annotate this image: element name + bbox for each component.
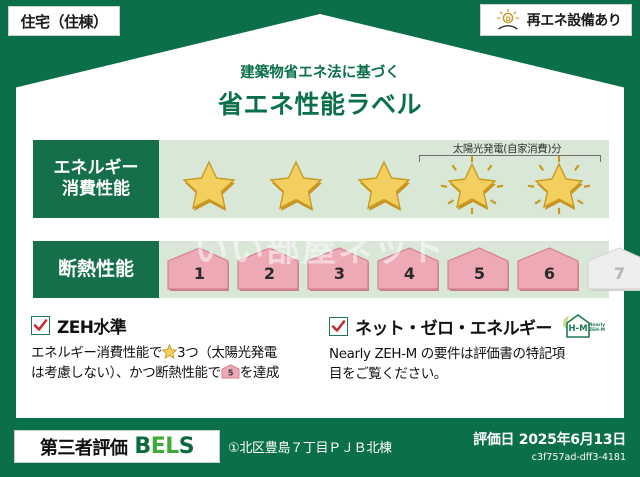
svg-text:ZEH-M: ZEH-M xyxy=(589,327,605,333)
renewable-equipment-badge: D 再エネ設備あり xyxy=(480,4,632,36)
house-icon-grade-6: 6 xyxy=(517,247,582,293)
evaluation-info: 評価日 2025年6月13日 c3f757ad-dff3-4181 xyxy=(473,429,626,463)
house-grade-number: 4 xyxy=(377,264,442,283)
house-grade-number: 3 xyxy=(307,264,372,283)
star-icon-filled xyxy=(350,155,418,215)
renewable-badge-label: 再エネ設備あり xyxy=(527,10,622,30)
zeh-body-part-d: を達成 xyxy=(240,365,279,381)
energy-key-line1: エネルギー xyxy=(54,158,139,179)
svg-text:5: 5 xyxy=(228,369,234,378)
net-zero-energy-heading: ネット・ゼロ・エネルギー H-M Nearly ZEH-M xyxy=(329,313,611,339)
sun-solar-icon: D xyxy=(495,8,521,32)
label-content: 建築物省エネ法に基づく 省エネ性能ラベル いい部屋ネット エネルギー 消費性能 … xyxy=(20,17,620,415)
house-grade-number: 6 xyxy=(517,264,582,283)
energy-key-line2: 消費性能 xyxy=(62,179,130,200)
insulation-key-label: 断熱性能 xyxy=(58,258,134,281)
house-grade-number: 2 xyxy=(237,264,302,283)
svg-text:D: D xyxy=(506,16,511,23)
house-grade-number: 7 xyxy=(587,264,640,283)
evaluation-date: 評価日 2025年6月13日 xyxy=(473,429,626,449)
net-zero-energy-block: ネット・ゼロ・エネルギー H-M Nearly ZEH-M Nearly ZEH… xyxy=(329,313,611,395)
net-zero-energy-body: Nearly ZEH-M の要件は評価書の特記項目をご覧ください。 xyxy=(329,344,611,385)
label-footer-bar: 第三者評価 BELS ①北区豊島７丁目ＰＪＢ北棟 評価日 2025年6月13日 … xyxy=(0,419,640,477)
building-type-badge: 住宅（住棟） xyxy=(8,6,120,36)
property-address: ①北区豊島７丁目ＰＪＢ北棟 xyxy=(228,437,392,456)
energy-performance-label-cell: エネルギー 消費性能 xyxy=(33,140,159,218)
title-subtitle: 建築物省エネ法に基づく xyxy=(20,61,620,82)
bels-letter-b: B xyxy=(134,434,150,459)
star-icon-solar xyxy=(438,155,506,215)
house-icon-grade-5: 5 xyxy=(447,247,512,293)
energy-performance-value-cell: 太陽光発電(自家消費)分 xyxy=(159,140,609,218)
zeh-body-part-a: エネルギー消費性能で xyxy=(31,345,162,361)
net-zero-energy-title: ネット・ゼロ・エネルギー xyxy=(355,314,552,339)
star-icon-solar xyxy=(525,155,593,215)
insulation-label-cell: 断熱性能 xyxy=(33,241,159,298)
energy-star-rating xyxy=(165,155,603,215)
zeh-body-part-b: 3つ（太陽光発電 xyxy=(177,345,277,361)
svg-text:H-M: H-M xyxy=(568,324,587,334)
house-icon-grade-7: 7 xyxy=(587,247,640,293)
energy-performance-row: エネルギー 消費性能 太陽光発電(自家消費)分 xyxy=(33,140,609,218)
zeh-standard-body: エネルギー消費性能で3つ（太陽光発電は考慮しない）、かつ断熱性能で5を達成 xyxy=(31,343,313,384)
bels-logo: BELS xyxy=(134,434,194,459)
insulation-grade-scale: 1 2 3 xyxy=(167,245,601,294)
label-title-block: 建築物省エネ法に基づく 省エネ性能ラベル xyxy=(20,61,620,121)
zeh-body-part-c: は考慮しない）、かつ断熱性能で xyxy=(31,365,221,381)
house-grade-number: 1 xyxy=(167,264,232,283)
checkbox-checked-icon xyxy=(31,316,50,335)
bels-letter-s: S xyxy=(179,434,194,459)
zeh-m-logo-icon: H-M Nearly ZEH-M xyxy=(561,313,605,339)
house-icon-grade-2: 2 xyxy=(237,247,302,293)
star-icon-filled xyxy=(175,155,243,215)
label-header-bar: 住宅（住棟） D 再エネ設備あり xyxy=(0,0,640,42)
inline-house-grade-icon: 5 xyxy=(221,364,240,379)
building-type-label: 住宅（住棟） xyxy=(20,11,107,32)
zeh-statements: ZEH水準 エネルギー消費性能で3つ（太陽光発電は考慮しない）、かつ断熱性能で5… xyxy=(31,313,611,395)
solar-generation-note: 太陽光発電(自家消費)分 xyxy=(409,141,605,156)
bels-letter-el: EL xyxy=(151,434,179,459)
checkbox-checked-icon xyxy=(329,317,348,336)
evaluation-id: c3f757ad-dff3-4181 xyxy=(473,452,626,463)
third-party-eval-label: 第三者評価 xyxy=(40,434,128,460)
page-title: 省エネ性能ラベル xyxy=(20,85,620,121)
star-icon-filled xyxy=(262,155,330,215)
insulation-performance-row: 断熱性能 1 xyxy=(33,241,609,298)
bels-third-party-badge: 第三者評価 BELS xyxy=(14,430,220,463)
insulation-value-cell: 1 2 3 xyxy=(159,241,609,298)
zeh-standard-title: ZEH水準 xyxy=(57,313,126,338)
energy-performance-label: 住宅（住棟） D 再エネ設備あり xyxy=(0,0,640,477)
house-icon-grade-4: 4 xyxy=(377,247,442,293)
house-grade-number: 5 xyxy=(447,264,512,283)
house-icon-grade-1: 1 xyxy=(167,247,232,293)
net-zero-body-line2: 目をご覧ください。 xyxy=(329,366,447,382)
house-icon-grade-3: 3 xyxy=(307,247,372,293)
zeh-standard-block: ZEH水準 エネルギー消費性能で3つ（太陽光発電は考慮しない）、かつ断熱性能で5… xyxy=(31,313,313,395)
net-zero-body-line1: Nearly ZEH-M の要件は評価書の特記項 xyxy=(329,346,565,362)
zeh-standard-heading: ZEH水準 xyxy=(31,313,313,338)
inline-star-icon xyxy=(162,344,177,359)
